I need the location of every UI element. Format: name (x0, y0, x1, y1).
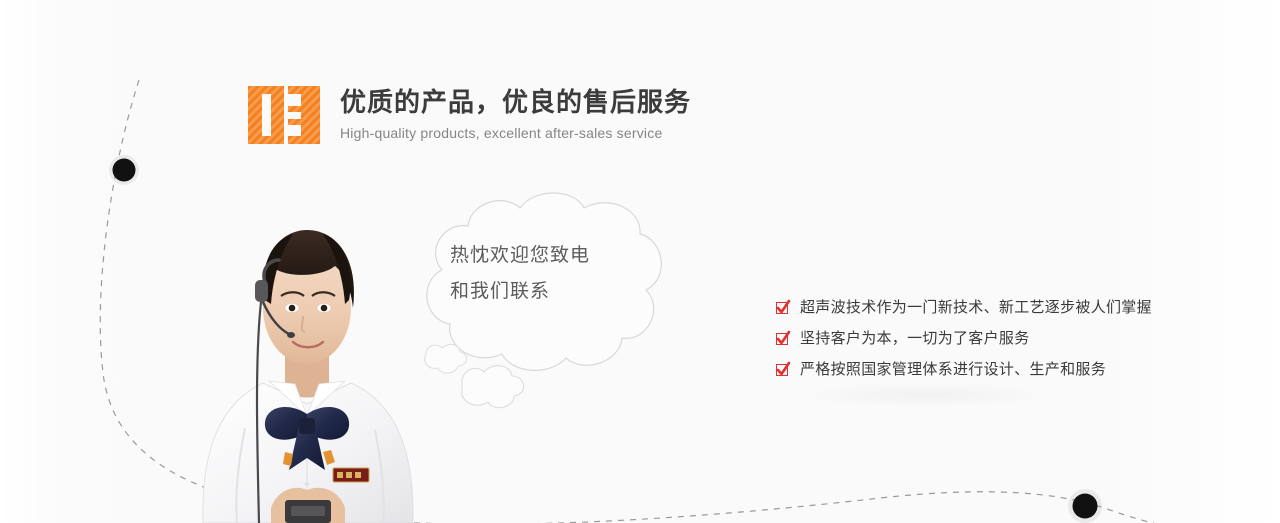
badge-carve-three-middle (288, 112, 301, 119)
speech-bubble-text: 热忱欢迎您致电 和我们联系 (450, 238, 640, 310)
heading-text-group: 优质的产品，优良的售后服务 High-quality products, exc… (340, 86, 691, 142)
check-icon (776, 302, 788, 314)
customer-service-operator-photo (185, 178, 430, 523)
bow-tie-knot (299, 418, 315, 434)
speech-bubble-shape (398, 186, 688, 436)
badge-carve-zero-bar (262, 94, 271, 136)
operator-shirt-button-2 (305, 482, 309, 486)
speech-bubble: 热忱欢迎您致电 和我们联系 (398, 186, 688, 436)
list-item-label: 严格按照国家管理体系进行设计、生产和服务 (800, 360, 1106, 380)
path-node-bottom (1068, 489, 1102, 523)
speech-bubble-line-1: 热忱欢迎您致电 (450, 238, 640, 274)
badge-carve-three-top (288, 94, 301, 106)
list-item-label: 超声波技术作为一门新技术、新工艺逐步被人们掌握 (800, 298, 1152, 318)
list-item: 坚持客户为本，一切为了客户服务 (776, 329, 1206, 349)
speech-bubble-line-2: 和我们联系 (450, 274, 640, 310)
speech-bubble-trail-medium (462, 366, 524, 408)
list-item: 超声波技术作为一门新技术、新工艺逐步被人们掌握 (776, 298, 1206, 318)
headset-mic (287, 332, 295, 338)
section-number-badge (248, 86, 320, 144)
page-subtitle: High-quality products, excellent after-s… (340, 124, 691, 142)
promo-banner: 优质的产品，优良的售后服务 High-quality products, exc… (0, 0, 1280, 523)
section-heading: 优质的产品，优良的售后服务 High-quality products, exc… (248, 86, 691, 144)
operator-pupil-left (289, 305, 296, 312)
list-item-label: 坚持客户为本，一切为了客户服务 (800, 329, 1030, 349)
badge-carve-three-bottom (288, 125, 301, 136)
path-node-top (109, 155, 139, 185)
operator-name-badge-text (337, 472, 361, 478)
list-item: 严格按照国家管理体系进行设计、生产和服务 (776, 360, 1206, 380)
feature-list: 超声波技术作为一门新技术、新工艺逐步被人们掌握 坚持客户为本，一切为了客户服务 … (776, 298, 1206, 391)
page-title: 优质的产品，优良的售后服务 (340, 86, 691, 118)
check-icon (776, 333, 788, 345)
check-icon (776, 364, 788, 376)
operator-pupil-right (321, 305, 328, 312)
headset-earpiece (255, 280, 268, 302)
operator-device-screen (291, 506, 325, 516)
